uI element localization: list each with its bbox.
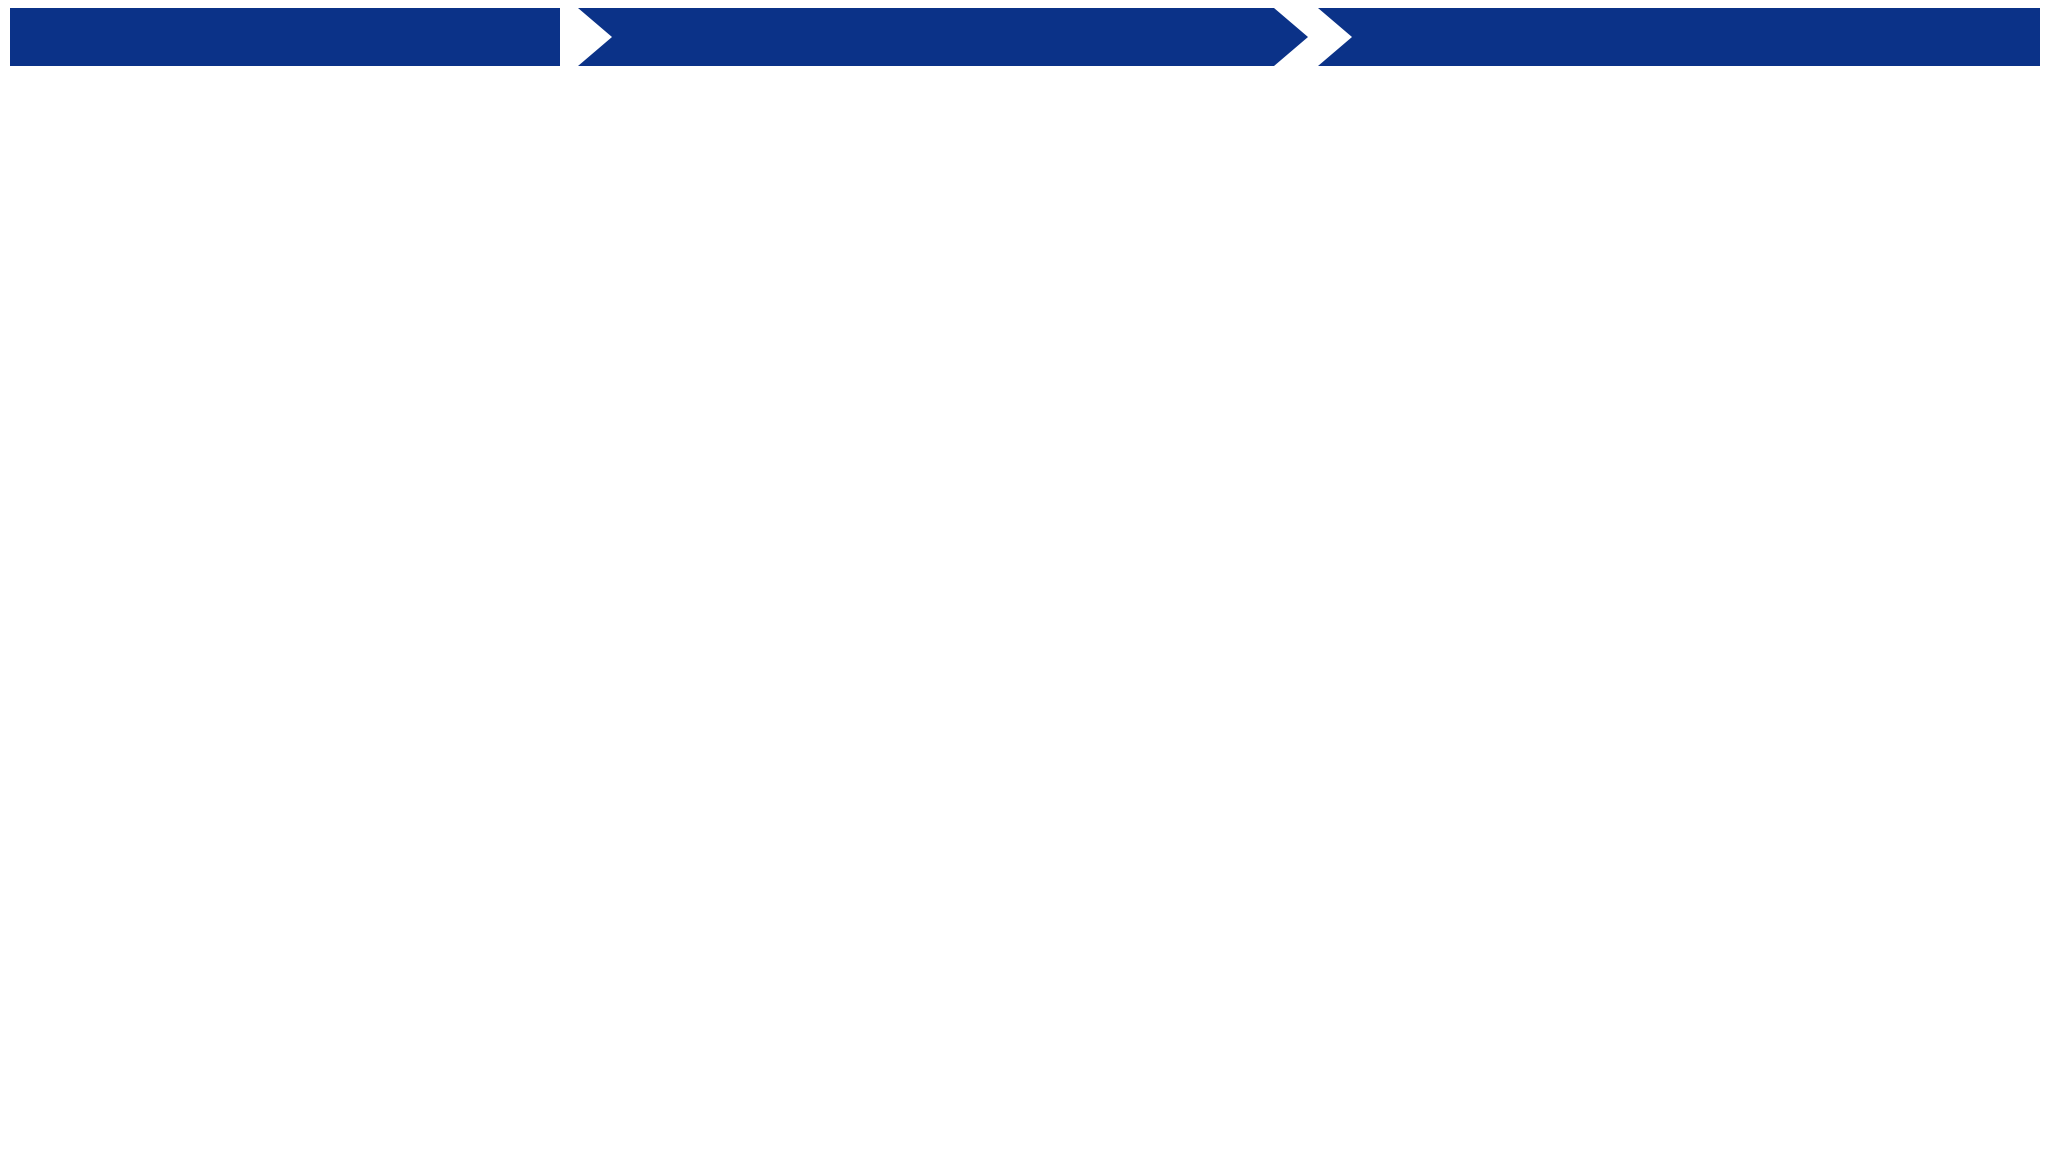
header-analysis xyxy=(578,8,1308,66)
header-applications xyxy=(10,8,560,66)
header-benefits xyxy=(1318,8,2040,66)
application-matrix-diagram xyxy=(0,0,2048,1176)
